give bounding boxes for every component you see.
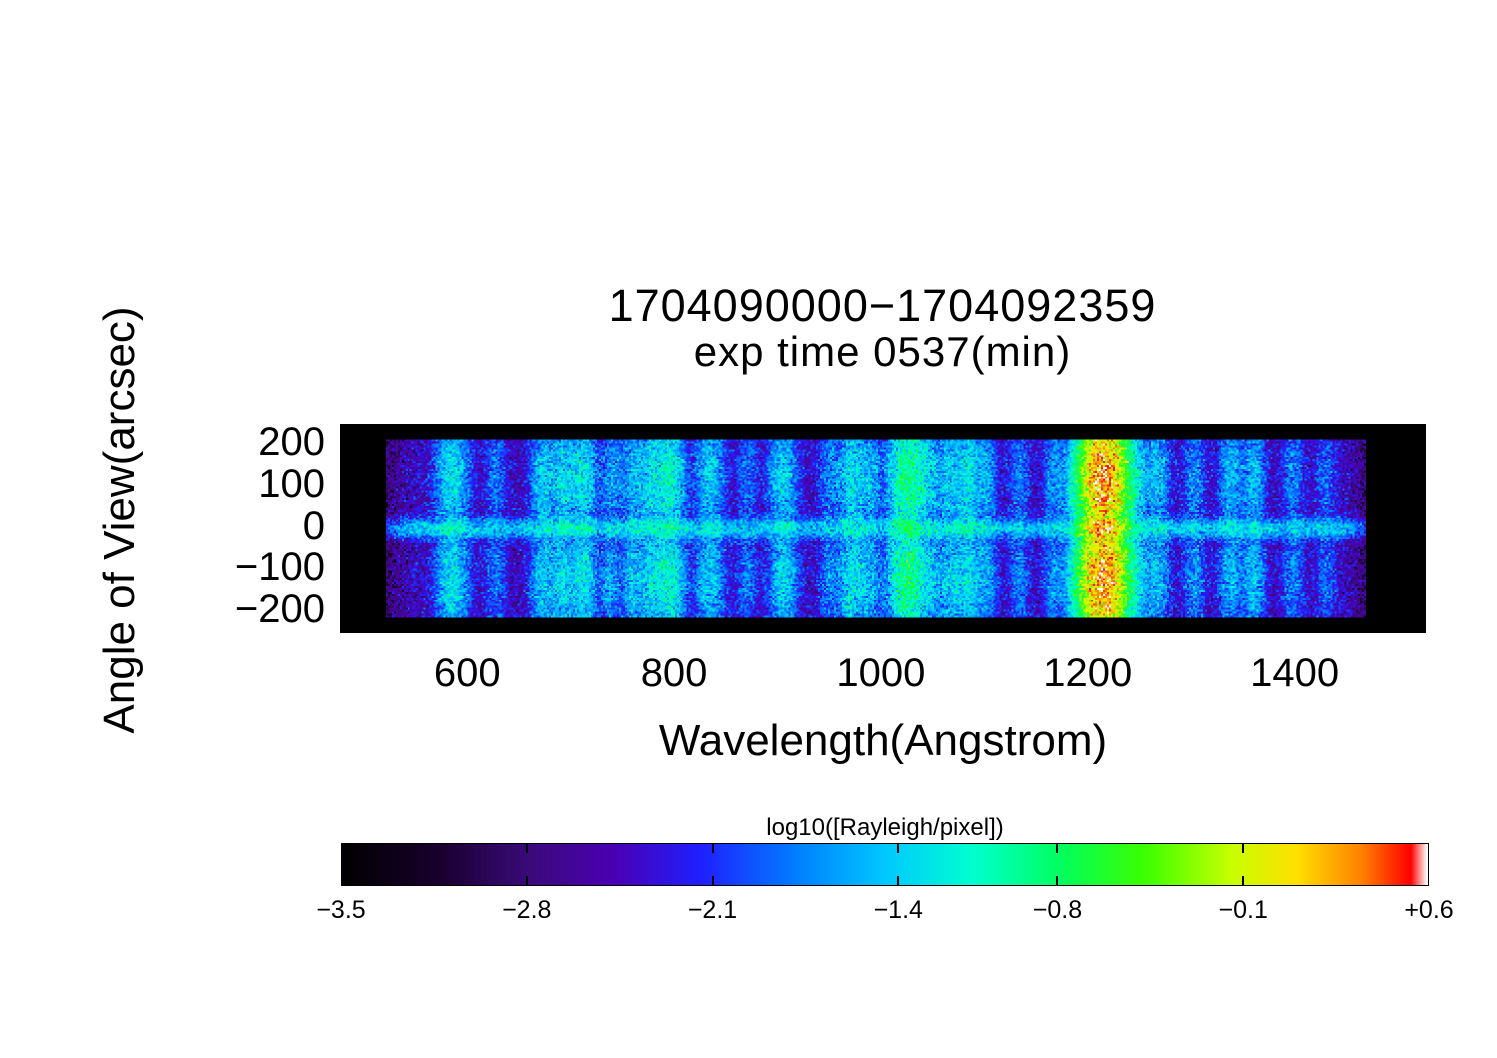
x-tick-label: 1200 (998, 651, 1178, 696)
y-tick-label: 0 (125, 504, 325, 549)
x-tick-label: 1000 (791, 651, 971, 696)
y-minor-tick (342, 494, 348, 496)
colorbar-tick-label: −2.1 (643, 896, 783, 925)
title-line-2: exp time 0537(min) (340, 330, 1425, 375)
x-major-tick-top (1087, 426, 1089, 437)
x-minor-tick (828, 625, 830, 631)
y-major-tick (342, 569, 353, 571)
y-tick-label: 200 (125, 420, 325, 465)
y-minor-tick (342, 461, 348, 463)
y-minor-tick-right (1418, 452, 1424, 454)
y-tick-label: −200 (125, 587, 325, 632)
x-tick-label: 1400 (1205, 651, 1385, 696)
colorbar-tick-label: −3.5 (271, 896, 411, 925)
colorbar-tick (526, 876, 528, 886)
y-minor-tick-right (1418, 461, 1424, 463)
y-minor-tick (342, 536, 348, 538)
y-minor-tick-right (1418, 511, 1424, 513)
x-major-tick (880, 620, 882, 631)
x-minor-tick (777, 625, 779, 631)
x-major-tick-top (466, 426, 468, 437)
y-minor-tick (342, 594, 348, 596)
y-minor-tick-right (1418, 561, 1424, 563)
y-minor-tick-right (1418, 628, 1424, 630)
x-minor-tick-top (1345, 426, 1347, 432)
colorbar-tick-label: −0.8 (987, 896, 1127, 925)
y-minor-tick (342, 519, 348, 521)
y-minor-tick (342, 578, 348, 580)
y-minor-tick-right (1418, 544, 1424, 546)
y-minor-tick (342, 511, 348, 513)
y-minor-tick (342, 628, 348, 630)
x-major-tick-top (1294, 426, 1296, 437)
colorbar-tick (1242, 843, 1244, 853)
figure-root: 1704090000−1704092359 exp time 0537(min)… (0, 0, 1497, 1058)
y-minor-tick-right (1418, 594, 1424, 596)
y-minor-tick (342, 561, 348, 563)
title-line-1: 1704090000−1704092359 (340, 282, 1425, 330)
colorbar-tick-label: −0.1 (1173, 896, 1313, 925)
x-minor-tick-top (1190, 426, 1192, 432)
x-minor-tick-top (932, 426, 934, 432)
x-minor-tick (1035, 625, 1037, 631)
x-major-tick (466, 620, 468, 631)
y-major-tick-right (1413, 611, 1424, 613)
colorbar-tick-label: +0.6 (1359, 896, 1497, 925)
colorbar-tick (897, 843, 899, 853)
y-major-tick-right (1413, 569, 1424, 571)
y-axis-title: Angle of View(arcsec) (95, 260, 145, 780)
y-minor-tick-right (1418, 536, 1424, 538)
x-major-tick (1294, 620, 1296, 631)
y-minor-tick-right (1418, 477, 1424, 479)
x-minor-tick (363, 625, 365, 631)
y-minor-tick (342, 477, 348, 479)
x-minor-tick-top (621, 426, 623, 432)
y-minor-tick-right (1418, 578, 1424, 580)
colorbar-gradient (342, 844, 1428, 885)
x-minor-tick-top (777, 426, 779, 432)
x-minor-tick (1139, 625, 1141, 631)
y-minor-tick (342, 469, 348, 471)
y-minor-tick (342, 544, 348, 546)
y-minor-tick (342, 619, 348, 621)
x-tick-label: 800 (584, 651, 764, 696)
colorbar-title: log10([Rayleigh/pixel]) (340, 814, 1430, 842)
colorbar-tick (1056, 843, 1058, 853)
colorbar-tick (526, 843, 528, 853)
x-minor-tick (1190, 625, 1192, 631)
x-minor-tick (725, 625, 727, 631)
x-major-tick-top (673, 426, 675, 437)
colorbar-tick (712, 876, 714, 886)
x-minor-tick-top (1139, 426, 1141, 432)
colorbar-tick (897, 876, 899, 886)
y-major-tick (342, 486, 353, 488)
y-tick-label: −100 (125, 545, 325, 590)
y-minor-tick-right (1418, 502, 1424, 504)
y-minor-tick-right (1418, 494, 1424, 496)
spectrogram-image (342, 426, 1424, 631)
x-minor-tick (570, 625, 572, 631)
y-minor-tick (342, 427, 348, 429)
y-minor-tick-right (1418, 519, 1424, 521)
x-minor-tick (621, 625, 623, 631)
y-major-tick-right (1413, 486, 1424, 488)
x-major-tick (1087, 620, 1089, 631)
y-minor-tick (342, 603, 348, 605)
x-minor-tick-top (725, 426, 727, 432)
y-major-tick (342, 444, 353, 446)
x-major-tick-top (880, 426, 882, 437)
y-minor-tick-right (1418, 586, 1424, 588)
y-minor-tick (342, 452, 348, 454)
x-minor-tick-top (570, 426, 572, 432)
y-minor-tick-right (1418, 603, 1424, 605)
x-minor-tick-top (1035, 426, 1037, 432)
y-major-tick (342, 611, 353, 613)
y-tick-label: 100 (125, 462, 325, 507)
y-major-tick-right (1413, 444, 1424, 446)
x-minor-tick (1345, 625, 1347, 631)
x-minor-tick-top (828, 426, 830, 432)
x-minor-tick-top (518, 426, 520, 432)
y-minor-tick-right (1418, 469, 1424, 471)
x-minor-tick (983, 625, 985, 631)
y-minor-tick (342, 586, 348, 588)
colorbar-tick (712, 843, 714, 853)
x-minor-tick (415, 625, 417, 631)
spectrogram-plot-area (340, 424, 1426, 633)
x-minor-tick-top (415, 426, 417, 432)
y-major-tick-right (1413, 528, 1424, 530)
x-minor-tick (1397, 625, 1399, 631)
x-minor-tick-top (1397, 426, 1399, 432)
x-minor-tick-top (1242, 426, 1244, 432)
x-major-tick (673, 620, 675, 631)
colorbar-tick (1242, 876, 1244, 886)
x-minor-tick-top (983, 426, 985, 432)
y-minor-tick (342, 436, 348, 438)
y-minor-tick-right (1418, 427, 1424, 429)
x-minor-tick-top (363, 426, 365, 432)
y-minor-tick-right (1418, 553, 1424, 555)
y-minor-tick-right (1418, 619, 1424, 621)
y-major-tick (342, 528, 353, 530)
colorbar-tick-label: −2.8 (457, 896, 597, 925)
plot-title: 1704090000−1704092359 exp time 0537(min) (340, 282, 1425, 374)
colorbar-tick-label: −1.4 (828, 896, 968, 925)
x-minor-tick (518, 625, 520, 631)
colorbar (341, 843, 1429, 886)
colorbar-tick (1056, 876, 1058, 886)
x-axis-title: Wavelength(Angstrom) (340, 716, 1426, 766)
y-minor-tick-right (1418, 436, 1424, 438)
y-minor-tick (342, 502, 348, 504)
x-minor-tick (1242, 625, 1244, 631)
x-tick-label: 600 (377, 651, 557, 696)
y-minor-tick (342, 553, 348, 555)
x-minor-tick (932, 625, 934, 631)
